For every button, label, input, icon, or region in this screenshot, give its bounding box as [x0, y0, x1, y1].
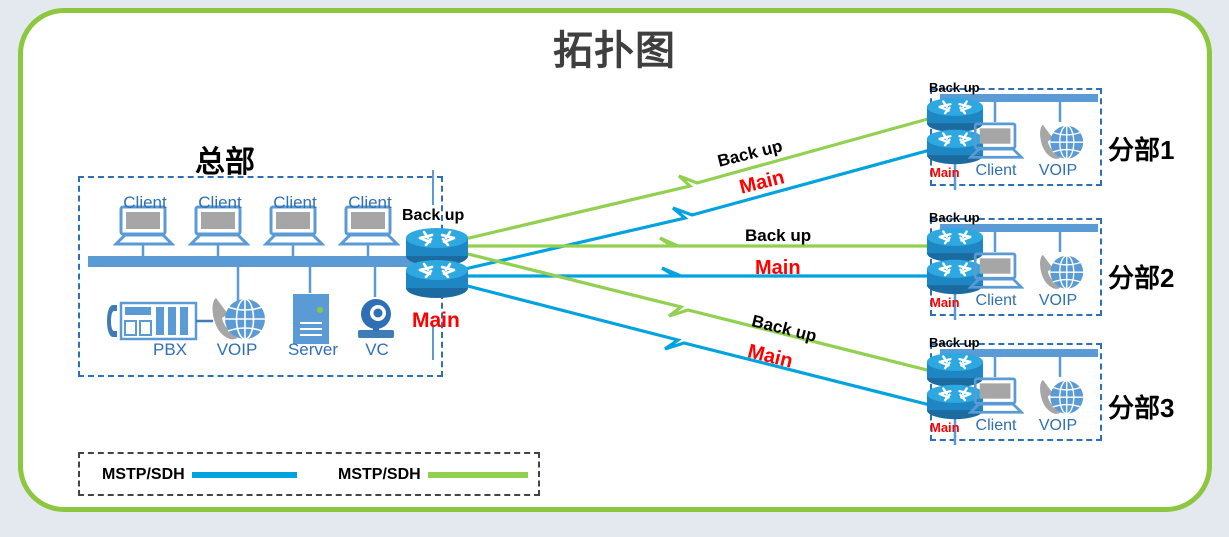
hq-client-3[interactable] [263, 205, 325, 252]
branch2-title: 分部2 [1108, 258, 1174, 295]
laptop-icon [968, 377, 1024, 415]
voip-globe-icon [1036, 120, 1086, 166]
legend-item-2-swatch [428, 472, 528, 478]
hq-router-main-label: Main [412, 309, 460, 333]
branch2-client-label: Client [964, 292, 1028, 309]
hq-client-3-label: Client [263, 193, 327, 212]
hq-router-backup-label: Back up [402, 207, 464, 225]
branch1-router-backup-label: Back up [929, 80, 980, 95]
pbx-icon [103, 297, 213, 345]
branch2-client[interactable] [968, 252, 1024, 295]
branch2-voip-label: VOIP [1032, 292, 1084, 309]
hq-voip-label: VOIP [208, 340, 266, 359]
hq-client-1-label: Client [113, 193, 177, 212]
legend: MSTP/SDH MSTP/SDH [78, 452, 540, 496]
branch3-router-main-label: Main [930, 420, 960, 435]
topology-diagram: 拓扑图 总部 [0, 0, 1229, 537]
hq-router-main[interactable] [404, 258, 470, 305]
branch1-title: 分部1 [1108, 130, 1174, 167]
hq-client-4[interactable] [338, 205, 400, 252]
server-icon [292, 293, 330, 345]
branch2-router-backup-label: Back up [929, 210, 980, 225]
branch1-router-main-label: Main [930, 165, 960, 180]
branch3-voip-label: VOIP [1032, 417, 1084, 434]
branch1-client[interactable] [968, 122, 1024, 165]
hq-client-2[interactable] [188, 205, 250, 252]
branch1-client-label: Client [964, 162, 1028, 179]
branch1-voip-label: VOIP [1032, 162, 1084, 179]
voip-globe-icon [1036, 375, 1086, 421]
legend-item-1-label: MSTP/SDH [102, 466, 185, 484]
hq-title: 总部 [195, 137, 255, 181]
branch3-client[interactable] [968, 377, 1024, 420]
hq-client-2-label: Client [188, 193, 252, 212]
hq-client-1[interactable] [113, 205, 175, 252]
link-label-main-branch2: Main [755, 257, 801, 280]
branch3-client-label: Client [964, 417, 1028, 434]
branch3-router-backup-label: Back up [929, 335, 980, 350]
hq-client-4-label: Client [338, 193, 402, 212]
hq-vc[interactable] [350, 297, 402, 346]
hq-vc-label: VC [345, 340, 409, 359]
legend-item-2-label: MSTP/SDH [338, 466, 421, 484]
router-icon [404, 258, 470, 300]
link-label-backup-branch2: Back up [745, 226, 811, 246]
branch3-title: 分部3 [1108, 388, 1174, 425]
hq-server-label: Server [281, 340, 345, 359]
branch2-router-main-label: Main [930, 295, 960, 310]
legend-item-1-swatch [192, 472, 297, 478]
video-camera-icon [350, 297, 402, 341]
voip-globe-icon [1036, 250, 1086, 296]
laptop-icon [968, 122, 1024, 160]
laptop-icon [968, 252, 1024, 290]
page-title: 拓扑图 [0, 18, 1229, 76]
hq-pbx-label: PBX [138, 340, 202, 359]
